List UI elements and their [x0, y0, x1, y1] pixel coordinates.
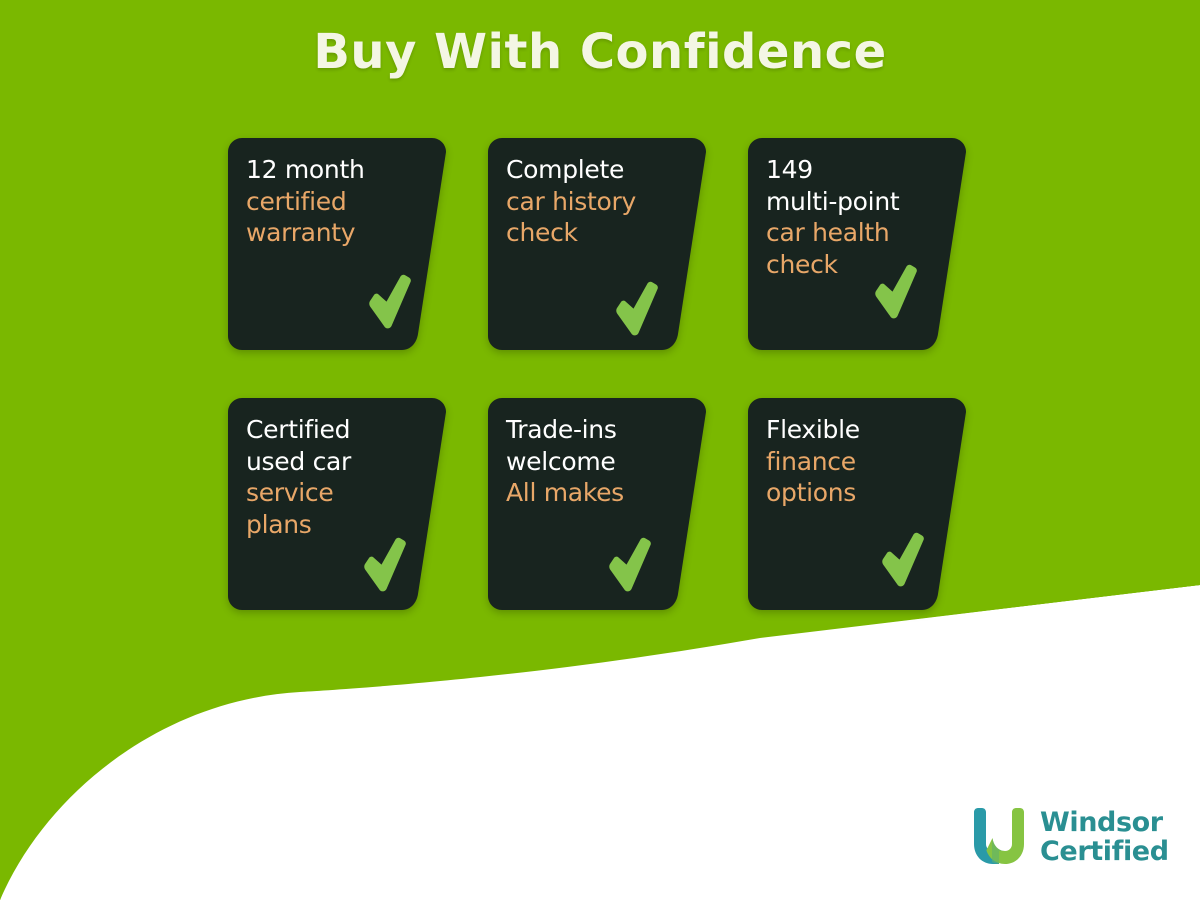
card-text: Flexible finance options	[766, 414, 952, 509]
card-line-orange: certified	[246, 186, 432, 218]
card-text: Complete car history check	[506, 154, 692, 249]
feature-card-flexible-finance-options[interactable]: Flexible finance options	[748, 398, 968, 610]
feature-card-complete-car-history-check[interactable]: Complete car history check	[488, 138, 708, 350]
feature-card-grid: 12 month certified warranty	[228, 138, 988, 658]
feature-card-12-month-certified-warranty[interactable]: 12 month certified warranty	[228, 138, 448, 350]
card-row-top: 12 month certified warranty	[228, 138, 988, 398]
card-line-orange: service	[246, 477, 432, 509]
card-line-orange: finance	[766, 446, 952, 478]
card-line-white: Trade-ins	[506, 414, 692, 446]
check-icon	[608, 537, 652, 593]
card-text: 12 month certified warranty	[246, 154, 432, 249]
card-line-orange: car health	[766, 217, 952, 249]
card-text: Certified used car service plans	[246, 414, 432, 540]
card-text: Trade-ins welcome All makes	[506, 414, 692, 509]
card-line-orange: check	[506, 217, 692, 249]
card-line-white: multi-point	[766, 186, 952, 218]
page-title: Buy With Confidence	[0, 24, 1200, 80]
feature-card-certified-used-car-service-plans[interactable]: Certified used car service plans	[228, 398, 448, 610]
card-text: 149 multi-point car health check	[766, 154, 952, 280]
logo-wordmark: Windsor Certified	[1040, 809, 1169, 866]
card-line-white: Complete	[506, 154, 692, 186]
card-line-orange: warranty	[246, 217, 432, 249]
card-line-orange: car history	[506, 186, 692, 218]
card-line-white: 149	[766, 154, 952, 186]
check-icon	[615, 281, 659, 337]
feature-card-149-multi-point-car-health-check[interactable]: 149 multi-point car health check	[748, 138, 968, 350]
card-line-white: 12 month	[246, 154, 432, 186]
card-line-white: welcome	[506, 446, 692, 478]
card-line-white: Flexible	[766, 414, 952, 446]
check-icon	[368, 274, 412, 330]
logo-line-2: Certified	[1040, 838, 1169, 867]
check-icon	[363, 537, 407, 593]
check-icon	[874, 264, 918, 320]
card-line-white: used car	[246, 446, 432, 478]
card-line-orange: options	[766, 477, 952, 509]
logo-line-1: Windsor	[1040, 809, 1169, 838]
windsor-certified-logo[interactable]: Windsor Certified	[968, 808, 1169, 868]
check-icon	[881, 532, 925, 588]
card-line-orange: plans	[246, 509, 432, 541]
card-line-white: Certified	[246, 414, 432, 446]
card-line-orange: check	[766, 249, 952, 281]
feature-card-trade-ins-welcome-all-makes[interactable]: Trade-ins welcome All makes	[488, 398, 708, 610]
windsor-w-icon	[968, 808, 1030, 868]
card-line-orange: All makes	[506, 477, 692, 509]
card-row-bottom: Certified used car service plans	[228, 398, 988, 658]
poster-canvas: Buy With Confidence 12 month certified w…	[0, 0, 1200, 900]
